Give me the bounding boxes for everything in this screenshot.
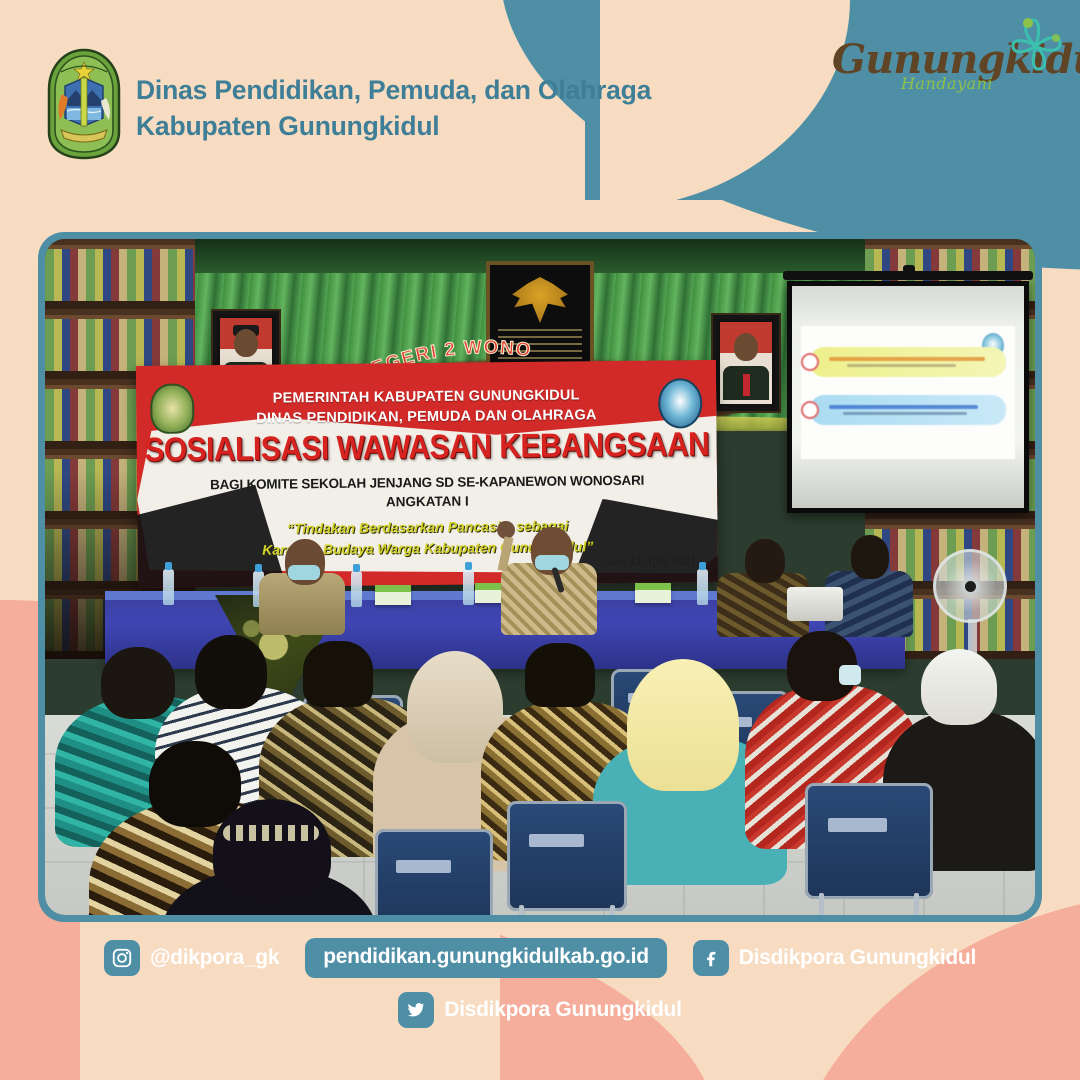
chair-leg — [519, 905, 524, 915]
kopiah-white-cap — [921, 649, 997, 725]
event-banner: PEMERINTAH KABUPATEN GUNUNGKIDUL DINAS P… — [136, 360, 718, 588]
projected-slide — [801, 326, 1014, 459]
event-photo: NEGERI 2 WONO — [45, 239, 1035, 915]
projector-screen — [792, 286, 1024, 508]
facebook-handle[interactable]: Disdikpora Gunungkidul — [693, 940, 976, 976]
audience-head — [149, 741, 241, 827]
twitter-icon[interactable] — [398, 992, 434, 1028]
water-bottle — [163, 569, 174, 605]
instagram-icon[interactable] — [104, 940, 140, 976]
chair-leg — [914, 893, 919, 915]
slide-row-2-text — [829, 405, 1006, 415]
audience-peci-head — [303, 641, 373, 707]
projector-screen-knob — [903, 265, 915, 276]
slide-row-2 — [810, 395, 1006, 424]
wall-fan-icon — [933, 549, 1007, 623]
hijab-beads — [223, 825, 319, 841]
hijab — [627, 659, 739, 791]
instagram-handle[interactable]: @dikpora_gk — [104, 940, 279, 976]
banner-title: SOSIALISASI WAWASAN KEBANGSAAN — [137, 426, 717, 470]
slide-row-1-number — [801, 353, 819, 371]
website-url-pill[interactable]: pendidikan.gunungkidulkab.go.id — [305, 938, 667, 978]
page-title: Dinas Pendidikan, Pemuda, dan Olahraga K… — [136, 72, 651, 144]
participant-head — [745, 539, 785, 583]
instagram-label[interactable]: @dikpora_gk — [150, 946, 279, 970]
audience-head — [101, 647, 175, 719]
poster-footer: @dikpora_gk pendidikan.gunungkidulkab.go… — [0, 930, 1080, 1080]
gunungkidul-brand-logo: Gunungkidul Handayani — [832, 38, 1062, 138]
gunungkidul-regency-crest-icon — [45, 48, 123, 160]
audience-head — [195, 635, 267, 709]
chair — [507, 801, 627, 911]
facebook-label[interactable]: Disdikpora Gunungkidul — [739, 946, 976, 970]
participant-head — [851, 535, 889, 579]
water-bottle — [351, 571, 362, 607]
slide-row-1 — [810, 347, 1006, 376]
chair-leg — [610, 905, 615, 915]
tissue-box — [635, 583, 671, 603]
twitter-label[interactable]: Disdikpora Gunungkidul — [444, 998, 681, 1022]
slide-row-1-text — [829, 357, 1006, 367]
hijab-dark — [213, 799, 331, 903]
facebook-icon[interactable] — [693, 940, 729, 976]
chair — [375, 829, 493, 915]
banner-date: ...sari, 12 April 2021 — [597, 553, 696, 569]
footer-row-secondary: Disdikpora Gunungkidul — [0, 992, 1080, 1028]
portrait-head — [234, 329, 258, 357]
event-photo-frame: NEGERI 2 WONO — [38, 232, 1042, 922]
water-bottle — [463, 569, 474, 605]
chair — [805, 783, 933, 899]
water-bottle — [697, 569, 708, 605]
speaker-left-mask — [288, 565, 320, 580]
twitter-handle[interactable]: Disdikpora Gunungkidul — [398, 992, 681, 1028]
portrait-head — [734, 333, 758, 361]
footer-row-primary: @dikpora_gk pendidikan.gunungkidulkab.go… — [0, 938, 1080, 978]
fan-hub — [962, 578, 979, 595]
portrait-photo — [720, 322, 772, 404]
projector-screen-frame — [787, 281, 1029, 513]
slide-row-2-number — [801, 401, 819, 419]
garuda-bird-icon — [512, 277, 568, 323]
equipment-box — [787, 587, 843, 621]
audience-peci-head — [525, 643, 595, 707]
poster-canvas: Dinas Pendidikan, Pemuda, dan Olahraga K… — [0, 0, 1080, 1080]
poster-header: Dinas Pendidikan, Pemuda, dan Olahraga K… — [0, 0, 1080, 220]
portrait-tie — [743, 374, 750, 396]
wakil-presiden-portrait — [713, 315, 779, 411]
chair-leg — [819, 893, 824, 915]
tissue-box — [375, 585, 411, 605]
butterfly-flourish-icon — [1002, 12, 1068, 77]
audience-mask — [839, 665, 861, 685]
